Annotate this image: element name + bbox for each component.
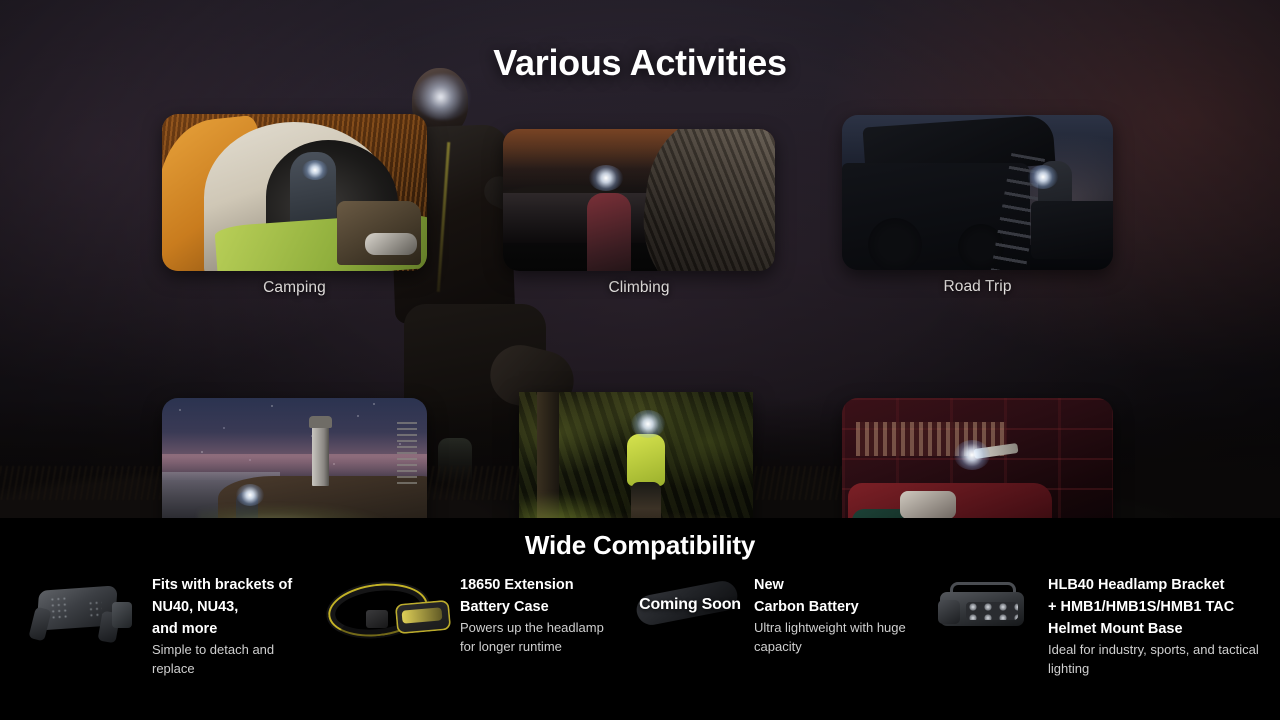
camping-headlamp-beam	[302, 160, 328, 180]
trekking-headlamp-beam	[236, 484, 264, 506]
emergency-lamp-beam	[954, 440, 990, 470]
activity-caption: Climbing	[503, 279, 775, 297]
night-running-foreground-bush	[519, 494, 623, 518]
trekking-beam-ground-pool	[198, 505, 388, 518]
road-trip-photo	[842, 115, 1113, 270]
bracket-vent-holes-right	[87, 600, 102, 619]
activity-card-climbing[interactable]: Climbing	[503, 129, 775, 297]
coming-soon-badge: Coming Soon	[628, 596, 752, 614]
battery-case-text-block: 18650 Extension Battery Case Powers up t…	[460, 574, 620, 656]
activity-card-road-trip[interactable]: Road Trip	[842, 115, 1113, 296]
compatibility-item-bracket[interactable]: Fits with brackets of NU40, NU43, and mo…	[20, 574, 320, 678]
climbing-person	[587, 193, 631, 271]
activities-row-2: Trekking Night Run	[0, 310, 1280, 508]
headlamp-with-strap-product	[322, 574, 452, 648]
emergency-pillow	[900, 491, 956, 518]
camping-photo	[162, 114, 427, 271]
product-feature-slide: Various Activities	[0, 0, 1280, 720]
compatibility-title: Wide Compatibility	[0, 530, 1280, 561]
emergency-lighting-photo	[842, 398, 1113, 518]
trekking-photo	[162, 398, 427, 518]
climbing-photo	[503, 129, 775, 271]
camping-shoes	[365, 233, 417, 255]
helmet-mount-title-line-3: Helmet Mount Base	[1048, 618, 1270, 640]
carbon-battery-title-line-2: Carbon Battery	[754, 596, 914, 618]
compatibility-item-battery-case[interactable]: 18650 Extension Battery Case Powers up t…	[322, 574, 622, 656]
activity-caption: Camping	[162, 279, 427, 297]
helmet-mount-light-product	[930, 574, 1036, 640]
activities-grid: Camping Climbing	[0, 112, 1280, 508]
activity-caption: Road Trip	[842, 278, 1113, 296]
page-title: Various Activities	[0, 42, 1280, 84]
camping-thumbnail[interactable]	[162, 114, 427, 271]
activity-card-emergency-lighting[interactable]: Emergency Lighting	[842, 398, 1113, 518]
night-running-headlamp-beam	[631, 410, 665, 438]
carbon-battery-title-line-1: New	[754, 574, 914, 596]
bracket-text-block: Fits with brackets of NU40, NU43, and mo…	[152, 574, 320, 678]
activity-card-camping[interactable]: Camping	[162, 114, 427, 297]
activity-card-trekking[interactable]: Trekking	[162, 398, 427, 518]
battery-case-title-line-1: 18650 Extension	[460, 574, 620, 596]
bracket-title-line-3: and more	[152, 618, 320, 640]
road-trip-headlamp-beam	[1028, 165, 1058, 189]
carbon-battery-text-block: New Carbon Battery Ultra lightweight wit…	[754, 574, 914, 656]
headlamp-bracket-product	[20, 574, 138, 652]
compatibility-section: Wide Compatibility Fits with brackets of…	[0, 518, 1280, 720]
activities-section: Various Activities	[0, 0, 1280, 518]
activity-card-night-running[interactable]: Night Running	[519, 392, 753, 518]
road-trip-thumbnail[interactable]	[842, 115, 1113, 270]
helmet-mount-text-block: HLB40 Headlamp Bracket + HMB1/HMB1S/HMB1…	[1048, 574, 1270, 678]
bracket-vent-holes-left	[49, 595, 69, 620]
emergency-lighting-thumbnail[interactable]	[842, 398, 1113, 518]
road-trip-front-wheel	[868, 218, 922, 270]
night-running-photo	[519, 392, 753, 518]
night-running-thumbnail[interactable]	[519, 392, 753, 518]
trekking-thumbnail[interactable]	[162, 398, 427, 518]
trekking-lighthouse-lantern	[309, 416, 332, 428]
headlamp-strap-buckle	[366, 610, 388, 628]
battery-case-subtitle: Powers up the headlamp for longer runtim…	[460, 619, 620, 656]
trekking-radio-tower	[397, 422, 417, 488]
compatibility-items: Fits with brackets of NU40, NU43, and mo…	[0, 574, 1280, 714]
compatibility-item-helmet-mount[interactable]: HLB40 Headlamp Bracket + HMB1/HMB1S/HMB1…	[930, 574, 1270, 678]
carbon-battery-subtitle: Ultra lightweight with huge capacity	[754, 619, 914, 656]
bracket-left-arm	[28, 607, 51, 642]
trekking-lighthouse	[312, 424, 329, 486]
helmet-mount-title-line-2: + HMB1/HMB1S/HMB1 TAC	[1048, 596, 1270, 618]
climbing-thumbnail[interactable]	[503, 129, 775, 271]
compatibility-item-carbon-battery[interactable]: Coming Soon New Carbon Battery Ultra lig…	[630, 574, 930, 656]
carbon-battery-product: Coming Soon	[630, 574, 748, 636]
bracket-title-line-1: Fits with brackets of	[152, 574, 320, 596]
climbing-headlamp-beam	[589, 165, 623, 191]
night-running-person-torso	[627, 434, 665, 486]
bracket-title-line-2: NU40, NU43,	[152, 596, 320, 618]
helmet-light-led-array	[966, 602, 1018, 620]
bracket-clip	[112, 602, 132, 628]
road-trip-second-vehicle	[1031, 201, 1113, 259]
helmet-light-side-module	[938, 600, 960, 624]
helmet-mount-title-line-1: HLB40 Headlamp Bracket	[1048, 574, 1270, 596]
helmet-mount-subtitle: Ideal for industry, sports, and tactical…	[1048, 641, 1270, 678]
activities-row-1: Camping Climbing	[0, 112, 1280, 310]
bracket-subtitle: Simple to detach and replace	[152, 641, 320, 678]
battery-case-title-line-2: Battery Case	[460, 596, 620, 618]
